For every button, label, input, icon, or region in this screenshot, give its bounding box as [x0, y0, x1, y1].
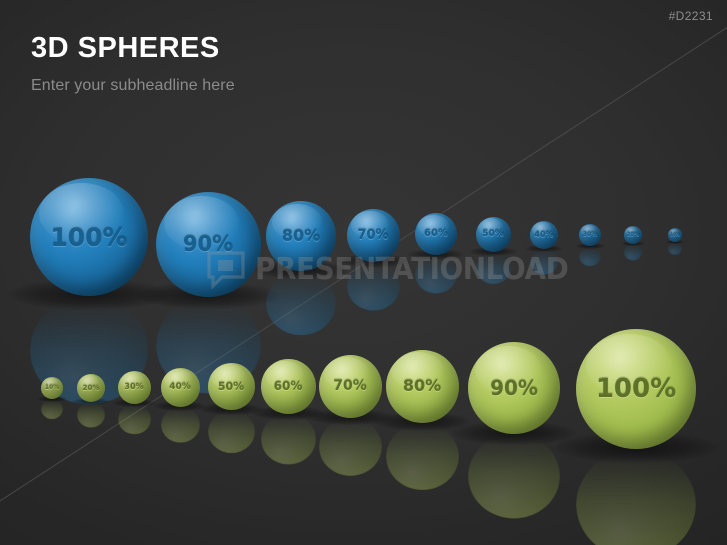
sphere-percent-label: 60% — [424, 229, 448, 239]
sphere-body[interactable]: 40% — [161, 368, 200, 407]
sphere-green-80[interactable]: 80% — [386, 350, 459, 423]
sphere-body[interactable]: 100% — [576, 329, 696, 449]
sphere-percent-label: 10% — [670, 233, 680, 237]
sphere-reflection — [261, 414, 316, 465]
sphere-body[interactable]: 70% — [319, 355, 382, 418]
sphere-blue-100[interactable]: 100% — [30, 178, 148, 296]
sphere-body[interactable]: 100% — [30, 178, 148, 296]
sphere-blue-90[interactable]: 90% — [156, 192, 261, 297]
sphere-body[interactable]: 60% — [261, 359, 316, 414]
sphere-reflection — [476, 252, 511, 284]
sphere-reflection — [266, 271, 336, 335]
sphere-percent-label: 100% — [50, 225, 127, 250]
sphere-reflection — [468, 434, 560, 519]
sphere-blue-40[interactable]: 40% — [530, 221, 558, 249]
sphere-blue-30[interactable]: 30% — [579, 224, 601, 246]
sphere-green-50[interactable]: 50% — [208, 363, 255, 410]
sphere-reflection — [161, 407, 200, 443]
sphere-reflection — [386, 423, 459, 490]
sphere-blue-20[interactable]: 20% — [624, 226, 642, 244]
sphere-body[interactable]: 50% — [208, 363, 255, 410]
sphere-body[interactable]: 20% — [624, 226, 642, 244]
sphere-reflection — [530, 249, 558, 275]
sphere-percent-label: 30% — [583, 232, 597, 238]
sphere-percent-label: 70% — [333, 379, 367, 393]
sphere-blue-60[interactable]: 60% — [415, 213, 457, 255]
sphere-green-100[interactable]: 100% — [576, 329, 696, 449]
slide-canvas: #D2231 3D SPHERES Enter your subheadline… — [0, 0, 727, 545]
sphere-body[interactable]: 50% — [476, 217, 511, 252]
sphere-green-10[interactable]: 10% — [41, 377, 63, 399]
sphere-percent-label: 80% — [403, 378, 441, 394]
sphere-blue-10[interactable]: 10% — [668, 228, 682, 242]
sphere-percent-label: 90% — [490, 378, 538, 398]
page-subtitle: Enter your subheadline here — [31, 78, 235, 94]
sphere-green-60[interactable]: 60% — [261, 359, 316, 414]
sphere-reflection — [415, 255, 457, 294]
sphere-percent-label: 40% — [169, 383, 191, 392]
sphere-body[interactable]: 80% — [386, 350, 459, 423]
page-title: 3D SPHERES — [31, 34, 220, 63]
sphere-reflection — [41, 399, 63, 419]
sphere-body[interactable]: 90% — [468, 342, 560, 434]
sphere-green-30[interactable]: 30% — [118, 371, 151, 404]
sphere-green-90[interactable]: 90% — [468, 342, 560, 434]
sphere-percent-label: 10% — [45, 385, 59, 391]
sphere-percent-label: 30% — [124, 383, 143, 391]
sphere-percent-label: 70% — [357, 229, 388, 242]
sphere-body[interactable]: 10% — [41, 377, 63, 399]
sphere-percent-label: 50% — [218, 381, 244, 392]
sphere-percent-label: 60% — [274, 380, 303, 392]
sphere-body[interactable]: 30% — [579, 224, 601, 246]
sphere-percent-label: 90% — [183, 234, 233, 255]
sphere-blue-70[interactable]: 70% — [347, 209, 400, 262]
sphere-blue-50[interactable]: 50% — [476, 217, 511, 252]
sphere-body[interactable]: 20% — [77, 374, 105, 402]
sphere-body[interactable]: 80% — [266, 201, 336, 271]
sphere-body[interactable]: 10% — [668, 228, 682, 242]
sphere-percent-label: 100% — [596, 376, 676, 402]
sphere-reflection — [208, 410, 255, 453]
sphere-reflection — [319, 418, 382, 476]
sphere-body[interactable]: 70% — [347, 209, 400, 262]
sphere-body[interactable]: 60% — [415, 213, 457, 255]
sphere-percent-label: 80% — [282, 228, 320, 244]
sphere-body[interactable]: 90% — [156, 192, 261, 297]
sphere-blue-80[interactable]: 80% — [266, 201, 336, 271]
sphere-reflection — [624, 244, 642, 261]
sphere-body[interactable]: 30% — [118, 371, 151, 404]
sphere-percent-label: 20% — [627, 233, 639, 238]
sphere-reflection — [576, 449, 696, 545]
sphere-green-70[interactable]: 70% — [319, 355, 382, 418]
sphere-reflection — [579, 246, 601, 266]
sphere-green-40[interactable]: 40% — [161, 368, 200, 407]
sphere-percent-label: 20% — [83, 385, 100, 392]
sphere-reflection — [118, 404, 151, 434]
sphere-percent-label: 40% — [534, 231, 553, 239]
sphere-reflection — [668, 242, 682, 255]
sphere-percent-label: 50% — [482, 230, 504, 239]
sphere-reflection — [347, 262, 400, 311]
sphere-green-20[interactable]: 20% — [77, 374, 105, 402]
sphere-reflection — [77, 402, 105, 428]
document-id-label: #D2231 — [669, 9, 713, 23]
sphere-body[interactable]: 40% — [530, 221, 558, 249]
